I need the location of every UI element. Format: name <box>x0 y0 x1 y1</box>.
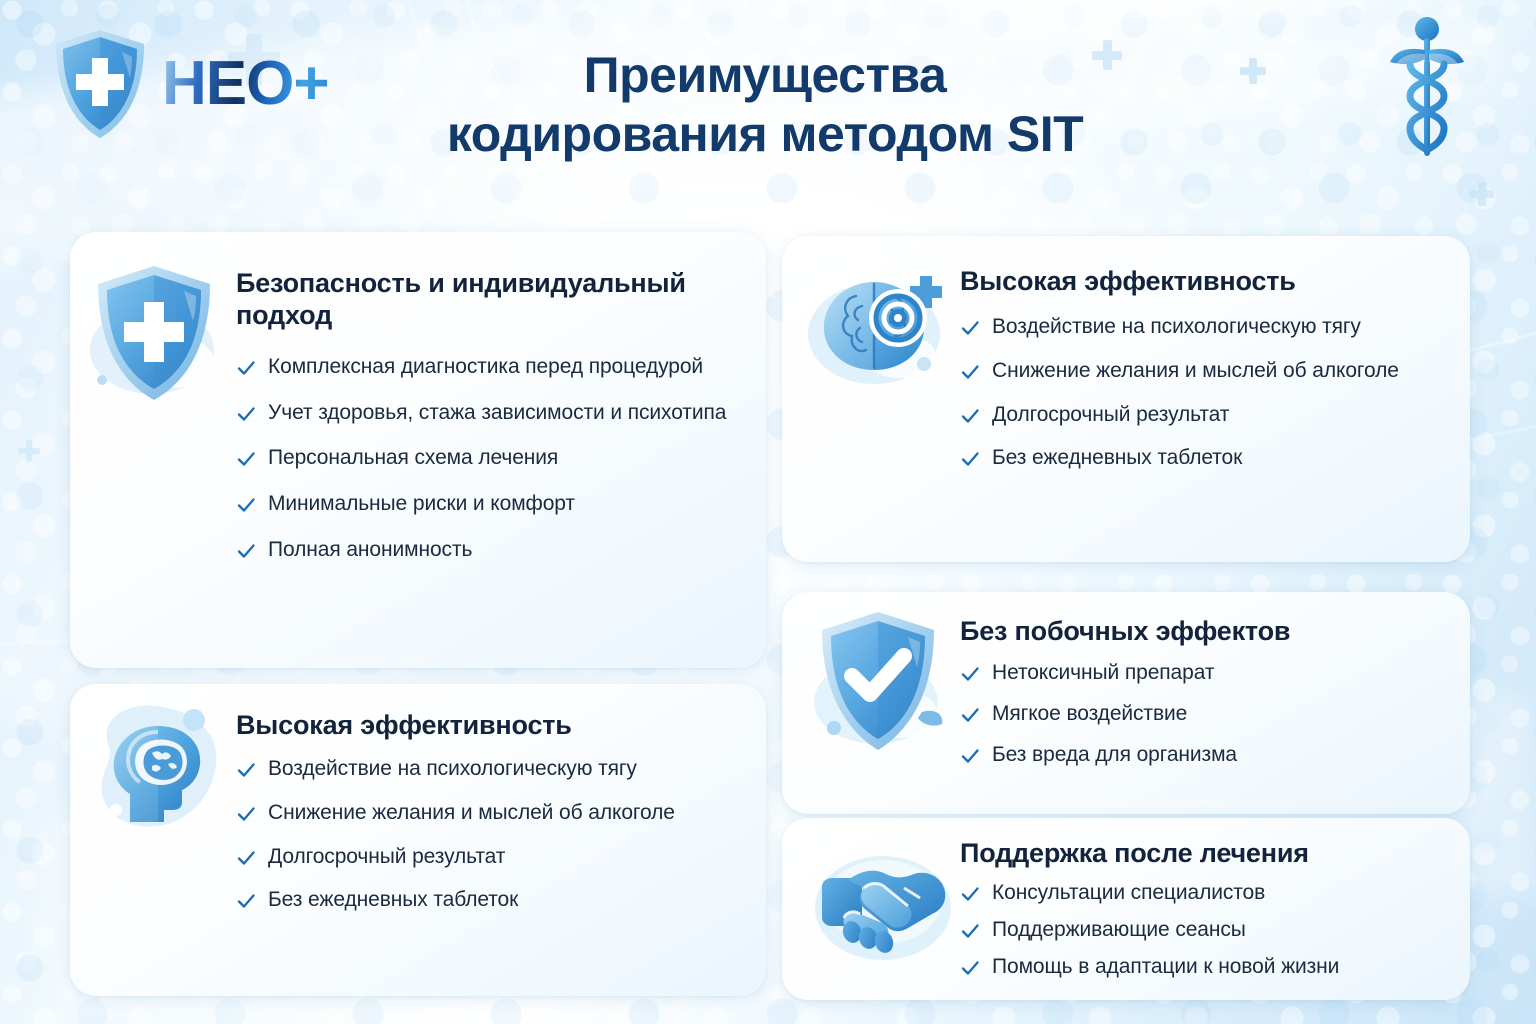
card-bullet-list: Консультации специалистов Поддерживающие… <box>960 880 1452 981</box>
list-item: Снижение желания и мыслей об алкоголе <box>960 358 1446 385</box>
list-item-label: Воздействие на психологическую тягу <box>268 756 637 783</box>
check-icon <box>236 541 256 561</box>
list-item-label: Без ежедневных таблеток <box>992 445 1242 472</box>
list-item: Помощь в адаптации к новой жизни <box>960 954 1452 981</box>
benefit-card-effectiveness-right[interactable]: Высокая эффективность Воздействие на пси… <box>782 236 1470 562</box>
page-title-line2: кодирования методом SIT <box>300 105 1230 164</box>
header: НЕО+ Преимущества кодирования методом SI… <box>0 0 1536 210</box>
list-item: Полная анонимность <box>236 537 736 564</box>
check-icon <box>960 406 980 426</box>
check-icon <box>236 848 256 868</box>
check-icon <box>960 884 980 904</box>
list-item-label: Снижение желания и мыслей об алкоголе <box>268 800 675 827</box>
benefit-card-safety[interactable]: Безопасность и индивидуальный подход Ком… <box>70 232 766 668</box>
card-bullet-list: Нетоксичный препарат Мягкое воздействие … <box>960 660 1446 769</box>
check-icon <box>236 404 256 424</box>
caduceus-icon <box>1388 14 1466 164</box>
list-item-label: Долгосрочный результат <box>992 402 1229 429</box>
list-item: Поддерживающие сеансы <box>960 917 1452 944</box>
brain-target-icon <box>804 258 954 398</box>
card-icon-column <box>782 818 960 1000</box>
shield-cross-icon <box>88 258 228 408</box>
check-icon <box>960 705 980 725</box>
card-title: Высокая эффективность <box>960 266 1446 298</box>
page-title: Преимущества кодирования методом SIT <box>300 46 1230 164</box>
list-item: Без ежедневных таблеток <box>236 887 740 914</box>
list-item-label: Полная анонимность <box>268 537 472 564</box>
card-title: Безопасность и индивидуальный подход <box>236 268 736 332</box>
card-text-column: Высокая эффективность Воздействие на пси… <box>236 684 766 996</box>
check-icon <box>236 891 256 911</box>
page-title-line1: Преимущества <box>300 46 1230 105</box>
benefit-card-no-side-effects[interactable]: Без побочных эффектов Нетоксичный препар… <box>782 592 1470 814</box>
card-bullet-list: Комплексная диагностика перед процедурой… <box>236 354 736 564</box>
list-item: Без ежедневных таблеток <box>960 445 1446 472</box>
list-item-label: Нетоксичный препарат <box>992 660 1214 687</box>
list-item: Комплексная диагностика перед процедурой <box>236 354 736 381</box>
list-item: Персональная схема лечения <box>236 445 736 472</box>
shield-cross-icon <box>52 28 148 140</box>
card-icon-column <box>782 592 960 814</box>
list-item: Воздействие на психологическую тягу <box>236 756 740 783</box>
check-icon <box>960 318 980 338</box>
list-item: Без вреда для организма <box>960 742 1446 769</box>
list-item-label: Мягкое воздействие <box>992 701 1187 728</box>
list-item-label: Поддерживающие сеансы <box>992 917 1246 944</box>
check-icon <box>960 746 980 766</box>
list-item-label: Минимальные риски и комфорт <box>268 491 575 518</box>
check-icon <box>236 495 256 515</box>
check-icon <box>236 358 256 378</box>
benefit-card-effectiveness-left[interactable]: Высокая эффективность Воздействие на пси… <box>70 684 766 996</box>
check-icon <box>236 804 256 824</box>
list-item: Снижение желания и мыслей об алкоголе <box>236 800 740 827</box>
list-item: Учет здоровья, стажа зависимости и психо… <box>236 400 736 427</box>
list-item-label: Учет здоровья, стажа зависимости и психо… <box>268 400 726 427</box>
check-icon <box>960 664 980 684</box>
card-icon-column <box>70 232 236 668</box>
card-title: Без побочных эффектов <box>960 616 1446 648</box>
check-icon <box>236 760 256 780</box>
benefit-card-support[interactable]: Поддержка после лечения Консультации спе… <box>782 818 1470 1000</box>
list-item-label: Снижение желания и мыслей об алкоголе <box>992 358 1399 385</box>
card-icon-column <box>70 684 236 996</box>
list-item-label: Долгосрочный результат <box>268 844 505 871</box>
handshake-icon <box>808 836 958 976</box>
list-item: Долгосрочный результат <box>960 402 1446 429</box>
card-title: Поддержка после лечения <box>960 838 1452 870</box>
card-text-column: Безопасность и индивидуальный подход Ком… <box>236 232 766 668</box>
card-text-column: Поддержка после лечения Консультации спе… <box>960 818 1470 1000</box>
check-icon <box>960 362 980 382</box>
list-item: Нетоксичный препарат <box>960 660 1446 687</box>
list-item: Консультации специалистов <box>960 880 1452 907</box>
card-text-column: Без побочных эффектов Нетоксичный препар… <box>960 592 1470 814</box>
shield-check-icon <box>812 606 952 756</box>
card-text-column: Высокая эффективность Воздействие на пси… <box>960 236 1470 562</box>
list-item: Минимальные риски и комфорт <box>236 491 736 518</box>
head-brain-icon <box>90 698 230 838</box>
list-item-label: Персональная схема лечения <box>268 445 558 472</box>
list-item-label: Воздействие на психологическую тягу <box>992 314 1361 341</box>
brand-logo: НЕО+ <box>52 28 329 140</box>
card-icon-column <box>782 236 960 562</box>
card-bullet-list: Воздействие на психологическую тягу Сниж… <box>960 314 1446 473</box>
list-item-label: Консультации специалистов <box>992 880 1265 907</box>
check-icon <box>236 449 256 469</box>
list-item: Долгосрочный результат <box>236 844 740 871</box>
check-icon <box>960 958 980 978</box>
list-item: Мягкое воздействие <box>960 701 1446 728</box>
list-item: Воздействие на психологическую тягу <box>960 314 1446 341</box>
card-title: Высокая эффективность <box>236 710 740 742</box>
list-item-label: Без вреда для организма <box>992 742 1237 769</box>
list-item-label: Комплексная диагностика перед процедурой <box>268 354 703 381</box>
card-bullet-list: Воздействие на психологическую тягу Сниж… <box>236 756 740 915</box>
check-icon <box>960 921 980 941</box>
check-icon <box>960 449 980 469</box>
list-item-label: Без ежедневных таблеток <box>268 887 518 914</box>
list-item-label: Помощь в адаптации к новой жизни <box>992 954 1339 981</box>
